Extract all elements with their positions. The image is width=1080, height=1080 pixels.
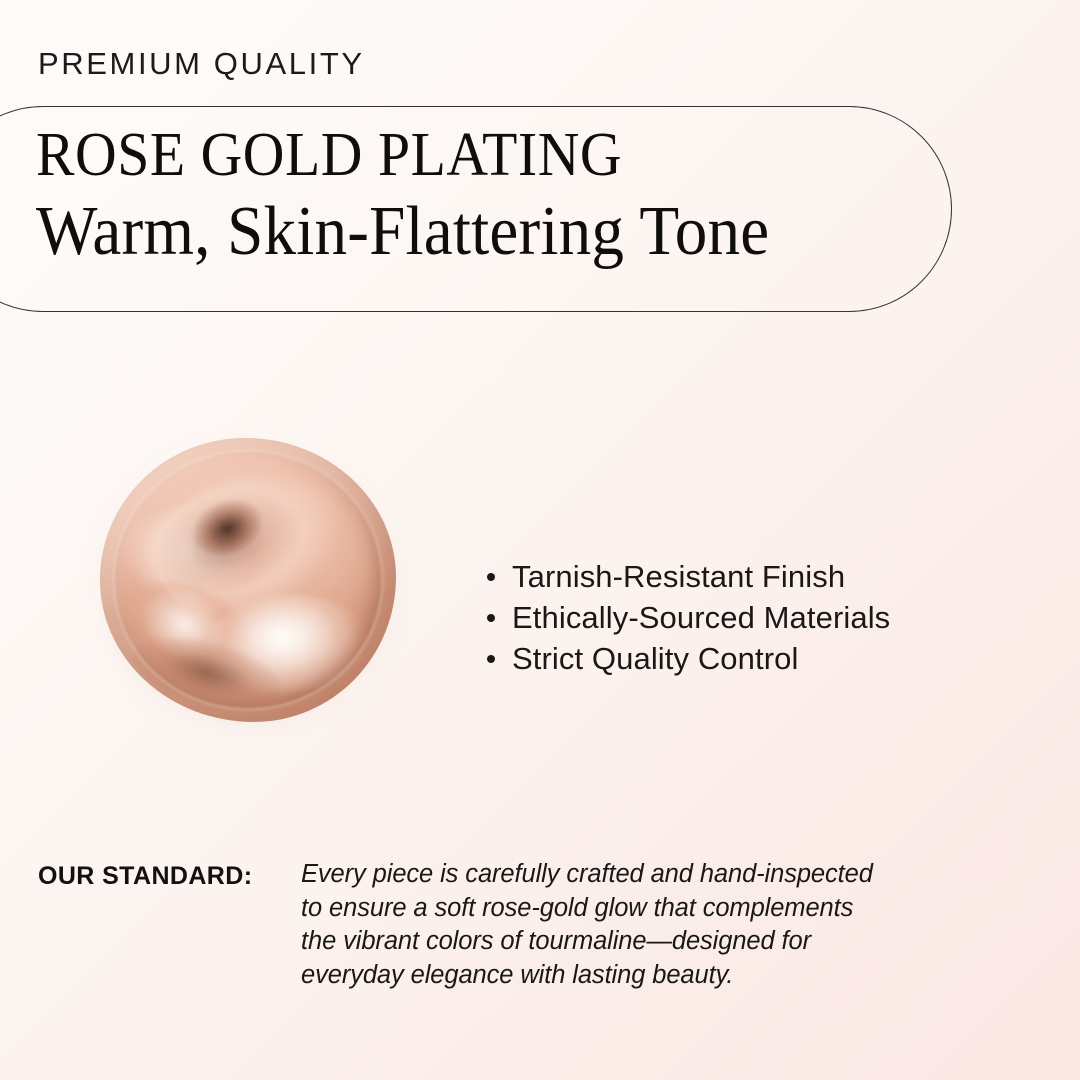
standard-block: OUR STANDARD: Every piece is carefully c… [38,858,1038,992]
swatch-highlight-a [138,452,359,635]
swatch-highlight-d [195,586,373,705]
list-item: Strict Quality Control [480,638,890,679]
page-title: ROSE GOLD PLATING Warm, Skin-Flattering … [36,118,936,272]
standard-line: to ensure a soft rose-gold glow that com… [301,892,1038,926]
standard-line: everyday elegance with lasting beauty. [301,959,1038,993]
eyebrow-label: PREMIUM QUALITY [38,46,365,82]
feature-label: Tarnish-Resistant Finish [512,559,845,594]
list-item: Tarnish-Resistant Finish [480,556,890,597]
standard-line: the vibrant colors of tourmaline—designe… [301,925,1038,959]
standard-label: OUR STANDARD: [38,862,252,891]
swatch-highlight-e [124,625,288,722]
heading-line-1: ROSE GOLD PLATING [36,118,873,192]
standard-line: Every piece is carefully crafted and han… [301,858,1038,892]
heading-line-2: Warm, Skin-Flattering Tone [36,192,873,272]
promo-card: PREMIUM QUALITY ROSE GOLD PLATING Warm, … [0,0,1080,1080]
feature-label: Ethically-Sourced Materials [512,600,890,635]
swatch-body [100,438,396,722]
rose-gold-swatch-image [100,438,396,722]
feature-label: Strict Quality Control [512,641,798,676]
feature-list: Tarnish-Resistant Finish Ethically-Sourc… [480,556,890,679]
swatch-highlight-b [181,488,274,569]
swatch-highlight-c [103,561,268,707]
swatch-rim [112,449,384,710]
list-item: Ethically-Sourced Materials [480,597,890,638]
